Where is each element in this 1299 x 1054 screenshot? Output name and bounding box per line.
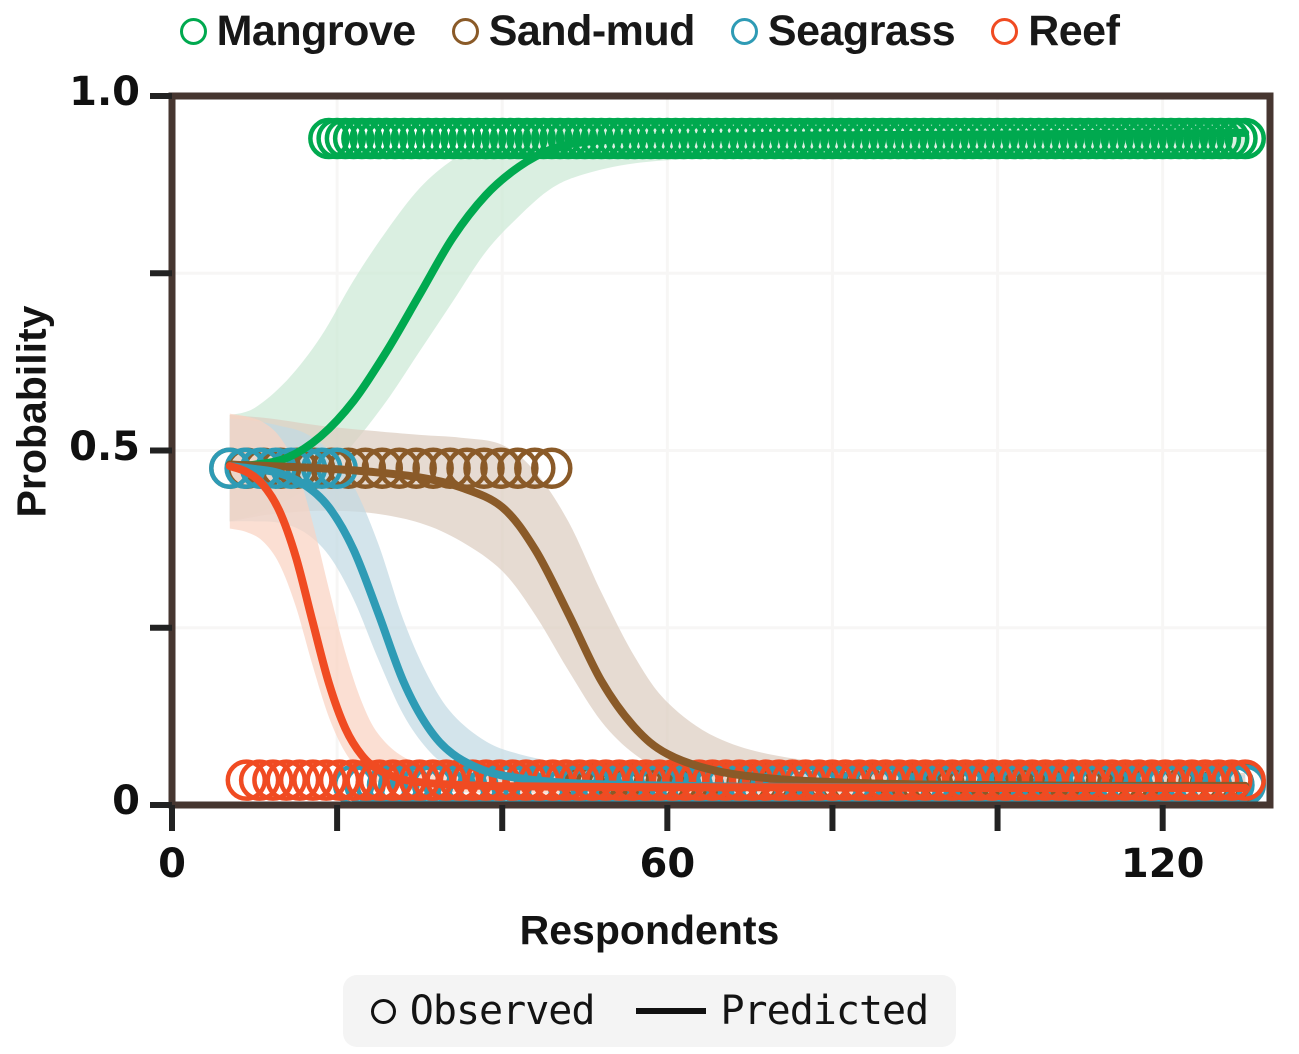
legend-item-reef[interactable]: Reef: [991, 10, 1119, 53]
legend-item-predicted[interactable]: Predicted: [636, 988, 928, 1034]
legend-label-sand-mud: Sand-mud: [489, 10, 695, 53]
circle-outline-icon: [731, 18, 758, 45]
circle-outline-icon: [452, 18, 479, 45]
legend-label-predicted: Predicted: [720, 988, 928, 1034]
circle-outline-icon: [180, 18, 207, 45]
y-tick-label: 0: [112, 778, 140, 824]
legend-item-observed[interactable]: Observed: [371, 988, 595, 1034]
legend-item-sand-mud[interactable]: Sand-mud: [452, 10, 695, 53]
probability-line-chart: [0, 52, 1299, 892]
line-segment-icon: [636, 1008, 706, 1014]
x-axis-title: Respondents: [0, 907, 1299, 954]
circle-outline-icon: [991, 18, 1018, 45]
legend-label-mangrove: Mangrove: [217, 10, 416, 53]
legend-label-observed: Observed: [410, 988, 595, 1034]
legend-label-reef: Reef: [1028, 10, 1119, 53]
legend-label-seagrass: Seagrass: [768, 10, 955, 53]
y-tick-label: 1.0: [69, 69, 140, 115]
x-tick-label: 120: [0, 841, 1299, 887]
chart-area: Probability Respondents 1.00.50060120: [0, 52, 1299, 892]
circle-outline-icon: [371, 999, 396, 1024]
y-axis-title: Probability: [9, 152, 56, 672]
legend-item-seagrass[interactable]: Seagrass: [731, 10, 955, 53]
observed-predicted-legend: Observed Predicted: [343, 975, 956, 1047]
y-tick-label: 0.5: [69, 424, 140, 470]
figure-root: Mangrove Sand-mud Seagrass Reef Probabil…: [0, 0, 1299, 1054]
legend-item-mangrove[interactable]: Mangrove: [180, 10, 416, 53]
